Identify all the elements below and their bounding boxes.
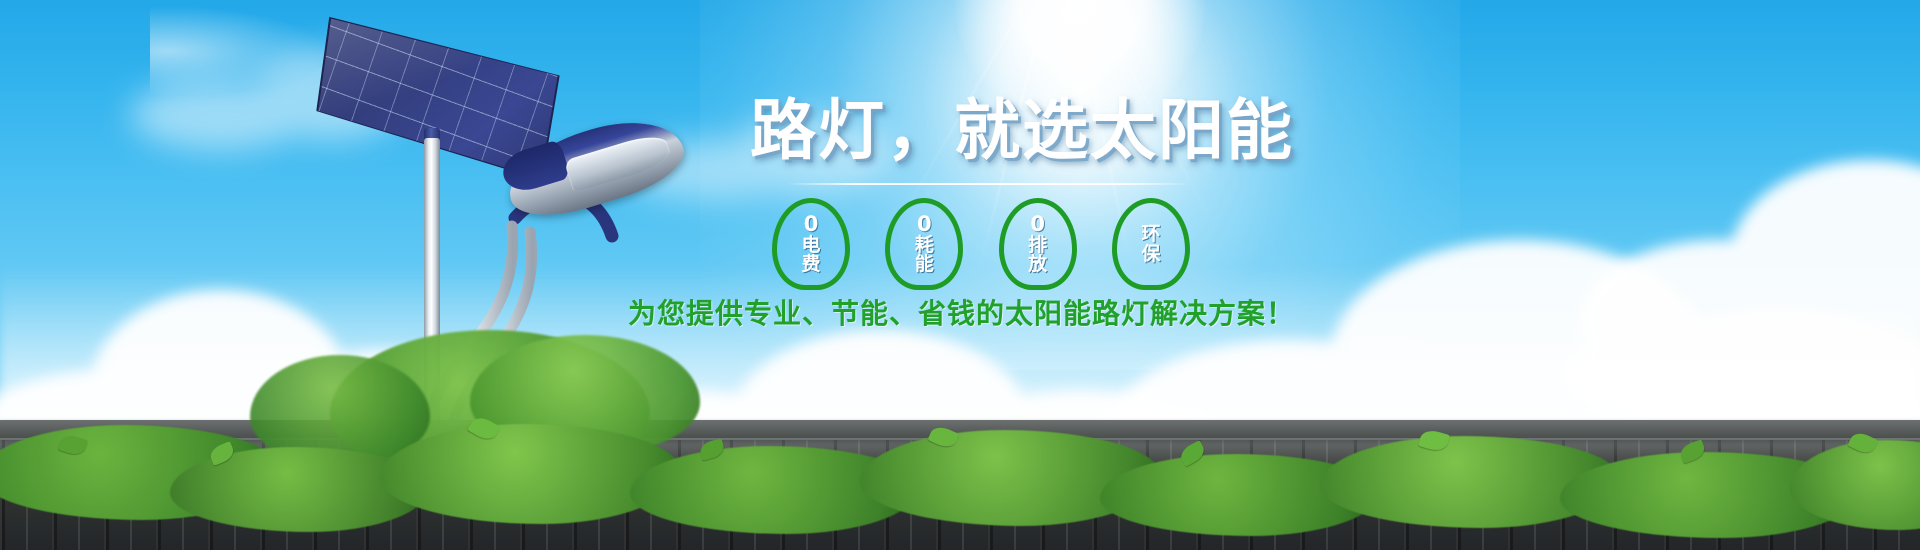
badge-numeral: 0	[804, 214, 819, 235]
headline-divider	[786, 183, 1190, 185]
headline: 路灯，就选太阳能	[750, 98, 1294, 164]
feature-badge-list: 0 电 费 0 耗 能 0 排 放	[766, 196, 1196, 292]
ivy-clump	[380, 424, 680, 524]
solar-street-light-banner: 路灯，就选太阳能 0 电 费 0 耗 能 0	[0, 0, 1920, 550]
feature-badge: 0 电 费	[766, 196, 856, 290]
feature-badge: 0 耗 能	[879, 196, 969, 290]
tagline: 为您提供专业、节能、省钱的太阳能路灯解决方案！	[628, 292, 1295, 332]
badge-label: 环 保	[1141, 225, 1160, 264]
foliage-foreground	[0, 330, 1920, 550]
feature-badge: 环 保	[1106, 196, 1196, 290]
badge-label-bottom: 能	[915, 255, 934, 274]
badge-label: 耗 能	[915, 236, 934, 275]
badge-label: 排 放	[1028, 236, 1047, 275]
badge-label: 电 费	[801, 236, 820, 275]
badge-label-top: 环	[1141, 225, 1160, 244]
badge-numeral: 0	[1030, 214, 1045, 235]
badge-label-bottom: 保	[1141, 245, 1160, 264]
badge-label-bottom: 放	[1028, 255, 1047, 274]
badge-label-bottom: 费	[801, 255, 820, 274]
feature-badge: 0 排 放	[993, 196, 1083, 290]
badge-numeral: 0	[917, 214, 932, 235]
